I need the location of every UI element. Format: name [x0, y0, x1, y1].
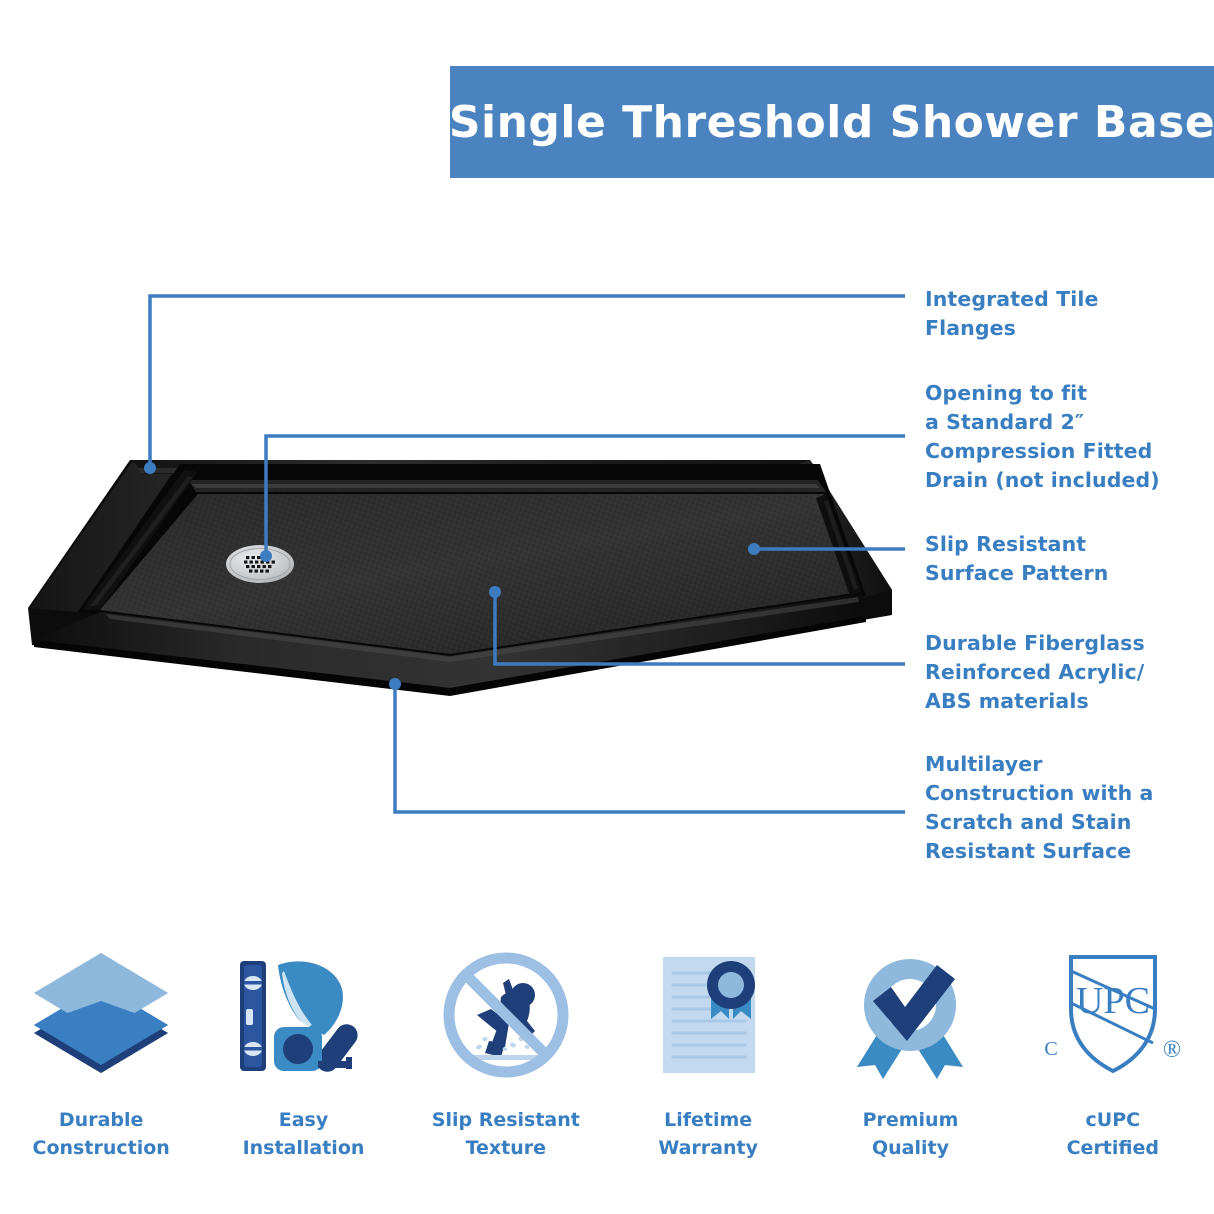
callout-line: Scratch and Stain [925, 808, 1153, 837]
feature-label: Slip Resistant Texture [432, 1107, 580, 1162]
callout-line: Surface Pattern [925, 559, 1108, 588]
feature-label-line: Construction [33, 1135, 170, 1163]
feature-label-line: Premium [863, 1107, 959, 1135]
callout-multilayer-construction: Multilayer Construction with a Scratch a… [925, 750, 1153, 866]
feature-label: Premium Quality [863, 1107, 959, 1162]
feature-label: Lifetime Warranty [658, 1107, 758, 1162]
callout-line: Resistant Surface [925, 837, 1153, 866]
callout-line: Compression Fitted [925, 437, 1160, 466]
stacked-layers-icon [30, 945, 172, 1085]
feature-label: Easy Installation [243, 1107, 365, 1162]
feature-easy-installation: Easy Installation [202, 945, 404, 1195]
page-title: Single Threshold Shower Base [449, 97, 1214, 148]
shower-base-illustration [20, 440, 900, 710]
upc-shield-icon: UPC C ® [1037, 945, 1189, 1085]
checkmark-rosette-icon [839, 945, 981, 1085]
callout-line: Durable Fiberglass [925, 629, 1145, 658]
upc-shield-text: UPC [1076, 980, 1150, 1022]
certificate-ribbon-icon [637, 945, 779, 1085]
feature-label-line: Easy [243, 1107, 365, 1135]
feature-durable-construction: Durable Construction [0, 945, 202, 1195]
upc-shield-left-mark: C [1044, 1038, 1057, 1060]
callout-line: a Standard 2″ [925, 408, 1160, 437]
feature-cupc-certified: UPC C ® cUPC Certified [1012, 945, 1214, 1195]
feature-label: Durable Construction [33, 1107, 170, 1162]
feature-label-line: Lifetime [658, 1107, 758, 1135]
callout-slip-resistant-surface: Slip Resistant Surface Pattern [925, 530, 1108, 588]
feature-badges-row: Durable Construction [0, 945, 1214, 1195]
callout-line: ABS materials [925, 687, 1145, 716]
callout-line: Drain (not included) [925, 466, 1160, 495]
callout-integrated-tile-flanges: Integrated Tile Flanges [925, 285, 1099, 343]
feature-label-line: cUPC [1067, 1107, 1159, 1135]
shower-base-product-photo [20, 440, 900, 710]
callout-durable-fiberglass: Durable Fiberglass Reinforced Acrylic/ A… [925, 629, 1145, 716]
no-slip-prohibition-icon [435, 945, 577, 1085]
infographic-page: Single Threshold Shower Base [0, 0, 1214, 1214]
feature-label-line: Installation [243, 1135, 365, 1163]
feature-slip-resistant-texture: Slip Resistant Texture [405, 945, 607, 1195]
feature-premium-quality: Premium Quality [809, 945, 1011, 1195]
title-banner: Single Threshold Shower Base [450, 66, 1214, 178]
feature-label-line: Warranty [658, 1135, 758, 1163]
feature-label-line: Durable [33, 1107, 170, 1135]
callout-drain-opening: Opening to fit a Standard 2″ Compression… [925, 379, 1160, 495]
callout-line: Flanges [925, 314, 1099, 343]
feature-label-line: Quality [863, 1135, 959, 1163]
level-trowel-tape-measure-icon [232, 945, 374, 1085]
drain-grate-icon [226, 545, 294, 583]
feature-label-line: Certified [1067, 1135, 1159, 1163]
feature-label: cUPC Certified [1067, 1107, 1159, 1162]
feature-label-line: Texture [432, 1135, 580, 1163]
callout-line: Construction with a [925, 779, 1153, 808]
callout-line: Slip Resistant [925, 530, 1108, 559]
callout-line: Opening to fit [925, 379, 1160, 408]
upc-shield-right-mark: ® [1163, 1037, 1181, 1063]
feature-label-line: Slip Resistant [432, 1107, 580, 1135]
feature-lifetime-warranty: Lifetime Warranty [607, 945, 809, 1195]
callout-line: Integrated Tile [925, 285, 1099, 314]
callout-line: Reinforced Acrylic/ [925, 658, 1145, 687]
callout-line: Multilayer [925, 750, 1153, 779]
